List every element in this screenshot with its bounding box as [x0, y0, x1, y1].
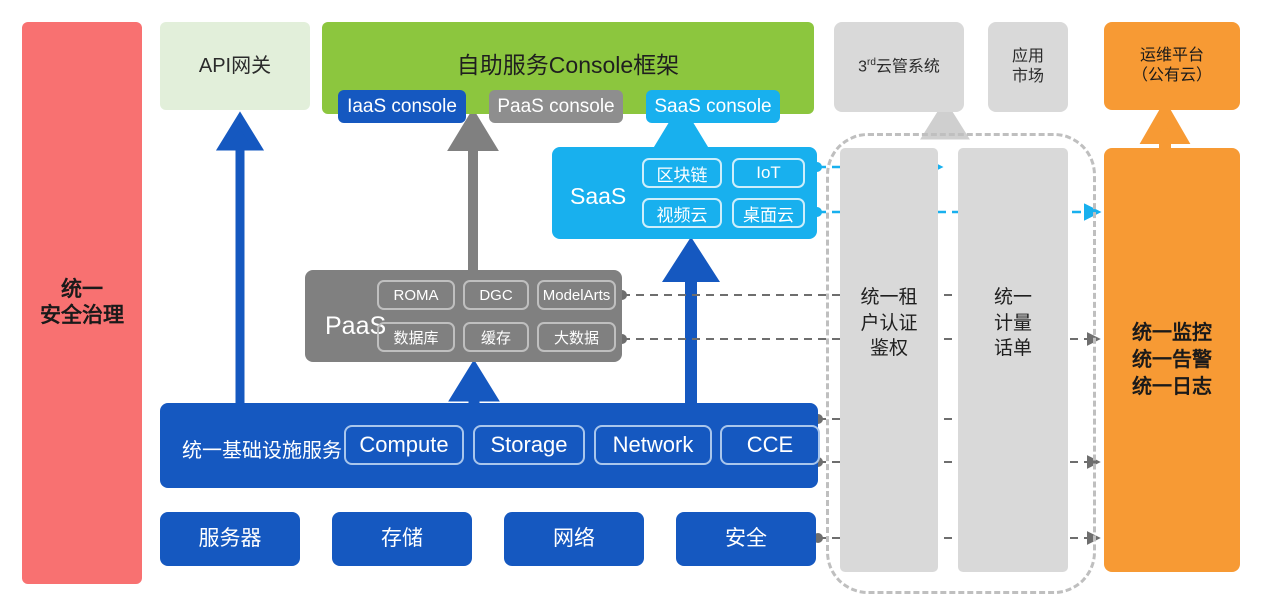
- ops-platform-line-1: 运维平台: [1140, 46, 1204, 66]
- unified-infrastructure-label: 统一基础设施服务: [182, 434, 342, 463]
- paas-chip-roma-label: ROMA: [394, 287, 439, 304]
- third-party-prefix: 3: [858, 58, 867, 75]
- saas-block[interactable]: SaaS 区块链 IoT 视频云 桌面云: [552, 147, 817, 239]
- saas-chip-blockchain-label: 区块链: [657, 161, 708, 186]
- arrow-infra-to-saas: [673, 248, 709, 405]
- paas-console-label: PaaS console: [497, 96, 614, 118]
- arrow-middle-to-third-party: [930, 110, 960, 134]
- arrow-infra-to-apigw: [224, 120, 256, 405]
- tenant-auth-line-1: 统一租: [840, 285, 938, 311]
- app-market-box[interactable]: 应用 市场: [988, 22, 1068, 112]
- metering-line-2: 计量: [958, 311, 1068, 337]
- paas-chip-cache-label: 缓存: [481, 327, 511, 348]
- paas-chip-roma[interactable]: ROMA: [377, 280, 455, 310]
- ops-body-line-1: 统一监控: [1132, 320, 1212, 347]
- resource-box-network[interactable]: 网络: [504, 512, 644, 566]
- saas-chip-video-cloud[interactable]: 视频云: [642, 198, 722, 228]
- third-party-sup: rd: [867, 57, 876, 68]
- app-market-line-2: 市场: [1012, 67, 1044, 87]
- ops-platform-body-panel[interactable]: 统一监控 统一告警 统一日志: [1104, 148, 1240, 572]
- saas-console-label: SaaS console: [654, 96, 771, 118]
- resource-box-server[interactable]: 服务器: [160, 512, 300, 566]
- saas-chip-desktop-cloud[interactable]: 桌面云: [732, 198, 805, 228]
- arrow-infra-to-paas: [458, 370, 490, 405]
- infra-chip-compute-label: Compute: [359, 432, 448, 458]
- infra-chip-cce-label: CCE: [747, 432, 793, 458]
- resource-storage-label: 存储: [381, 526, 423, 552]
- paas-chip-bigdata-label: 大数据: [554, 327, 599, 348]
- saas-block-label: SaaS: [570, 183, 626, 210]
- resource-security-label: 安全: [725, 526, 767, 552]
- arrow-paas-to-console: [456, 118, 490, 272]
- paas-chip-database-label: 数据库: [393, 327, 438, 348]
- paas-chip-cache[interactable]: 缓存: [463, 322, 529, 352]
- saas-chip-iot-label: IoT: [756, 163, 781, 183]
- governance-line-2: 安全治理: [40, 303, 124, 329]
- architecture-diagram: 统一 安全治理 API网关 自助服务Console框架 IaaS console…: [0, 0, 1265, 605]
- api-gateway-box[interactable]: API网关: [160, 22, 310, 110]
- metering-billing-label: 统一 计量 话单: [958, 285, 1068, 362]
- metering-line-1: 统一: [958, 285, 1068, 311]
- paas-chip-dgc-label: DGC: [479, 287, 512, 304]
- iaas-console-label: IaaS console: [347, 96, 457, 118]
- infra-chip-compute[interactable]: Compute: [344, 425, 464, 465]
- tenant-auth-line-2: 户认证: [840, 311, 938, 337]
- saas-chip-desktop-cloud-label: 桌面云: [743, 201, 794, 226]
- iaas-console-chip[interactable]: IaaS console: [338, 90, 466, 123]
- saas-chip-blockchain[interactable]: 区块链: [642, 158, 722, 188]
- infra-chip-network[interactable]: Network: [594, 425, 712, 465]
- console-frame-title: 自助服务Console框架: [322, 46, 814, 80]
- saas-chip-iot[interactable]: IoT: [732, 158, 805, 188]
- saas-console-chip[interactable]: SaaS console: [646, 90, 780, 123]
- third-party-cloud-mgmt-box[interactable]: 3rd云管系统: [834, 22, 964, 112]
- tenant-auth-line-3: 鉴权: [840, 336, 938, 362]
- resource-network-label: 网络: [553, 526, 595, 552]
- infra-chip-storage[interactable]: Storage: [473, 425, 585, 465]
- infra-chip-storage-label: Storage: [490, 432, 567, 458]
- app-market-line-1: 应用: [1012, 47, 1044, 67]
- paas-chip-database[interactable]: 数据库: [377, 322, 455, 352]
- resource-box-storage[interactable]: 存储: [332, 512, 472, 566]
- unified-security-governance-panel[interactable]: 统一 安全治理: [22, 22, 142, 584]
- api-gateway-label: API网关: [199, 54, 271, 79]
- paas-chip-modelarts[interactable]: ModelArts: [537, 280, 616, 310]
- third-party-label: 3rd云管系统: [858, 57, 940, 77]
- ops-platform-head-box[interactable]: 运维平台 （公有云）: [1104, 22, 1240, 110]
- paas-chip-bigdata[interactable]: 大数据: [537, 322, 616, 352]
- paas-chip-modelarts-label: ModelArts: [543, 287, 611, 304]
- tenant-auth-label: 统一租 户认证 鉴权: [840, 285, 938, 362]
- paas-chip-dgc[interactable]: DGC: [463, 280, 529, 310]
- paas-block[interactable]: PaaS ROMA DGC ModelArts 数据库 缓存 大数据: [305, 270, 622, 362]
- unified-infrastructure-block[interactable]: 统一基础设施服务 Compute Storage Network CCE: [160, 403, 818, 488]
- governance-line-1: 统一: [61, 277, 103, 303]
- self-service-console-frame[interactable]: 自助服务Console框架 IaaS console PaaS console …: [322, 22, 814, 114]
- ops-body-line-3: 统一日志: [1132, 374, 1212, 401]
- arrow-ops-panel-to-ops-head: [1150, 112, 1180, 148]
- paas-console-chip[interactable]: PaaS console: [489, 90, 623, 123]
- infra-chip-network-label: Network: [613, 432, 694, 458]
- resource-server-label: 服务器: [199, 526, 262, 552]
- third-party-suffix: 云管系统: [876, 58, 940, 75]
- infra-chip-cce[interactable]: CCE: [720, 425, 820, 465]
- ops-body-line-2: 统一告警: [1132, 347, 1212, 374]
- ops-platform-line-2: （公有云）: [1132, 66, 1212, 86]
- saas-chip-video-cloud-label: 视频云: [657, 201, 708, 226]
- metering-line-3: 话单: [958, 336, 1068, 362]
- resource-box-security[interactable]: 安全: [676, 512, 816, 566]
